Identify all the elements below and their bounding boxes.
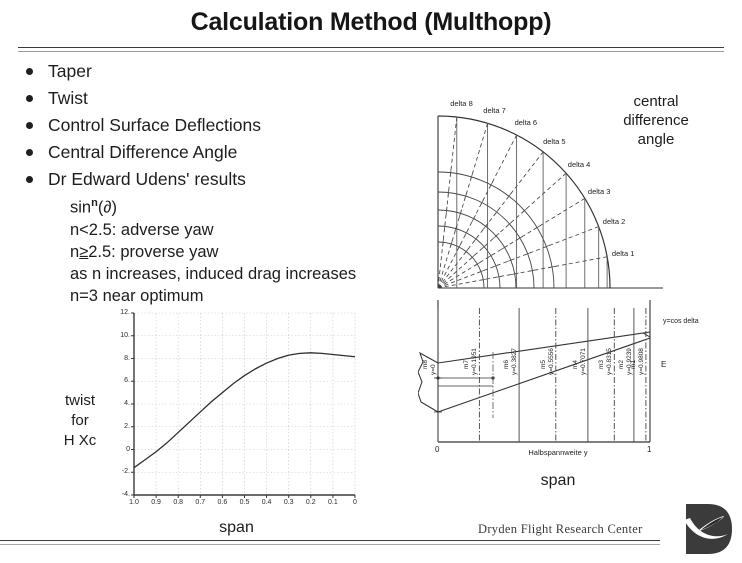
delta-label-3: delta 3: [588, 187, 611, 196]
span-axis-title: Halbspannweite y: [478, 448, 638, 457]
e-label: E: [661, 360, 666, 369]
twist-label-line3: H Xc: [52, 431, 108, 451]
cda-heading: central difference angle: [586, 92, 726, 149]
twist-y-tick: -4.: [108, 491, 130, 498]
sin-exponent: n: [91, 197, 98, 209]
twist-x-tick: 0.1: [323, 499, 343, 506]
twist-y-tick: 12.: [108, 309, 130, 316]
dryden-logo-icon: [678, 500, 736, 558]
delta-label-8: delta 8: [450, 99, 473, 108]
twist-chart: twist for H Xc 12.10.8.6.4.2.0-2.-4. 1.0…: [52, 303, 382, 543]
udens-detail-lines: sinn(∂) n<2.5: adverse yaw n≥2.5: prover…: [70, 192, 356, 307]
proverse-yaw-line: n≥2.5: proverse yaw: [70, 241, 356, 263]
twist-x-tick: 0.3: [279, 499, 299, 506]
proverse-prefix: n: [70, 243, 79, 261]
y-cos-delta-note: y=cos delta: [663, 318, 699, 325]
station-name: m7: [463, 360, 470, 369]
station-name: m1: [630, 360, 637, 369]
twist-y-tick: 4.: [108, 400, 130, 407]
greater-equal-symbol: ≥: [79, 243, 88, 261]
delta-label-2: delta 2: [603, 217, 626, 226]
twist-x-tick: 0.5: [235, 499, 255, 506]
station-name: m8: [422, 360, 429, 369]
title-divider-shadow: [18, 51, 724, 52]
bullet-label: Taper: [48, 60, 92, 83]
delta-label-5: delta 5: [543, 137, 566, 146]
station-name: m5: [540, 360, 547, 369]
twist-x-tick: 0: [345, 499, 365, 506]
delta-label-6: delta 6: [515, 118, 538, 127]
proverse-suffix: 2.5: proverse yaw: [88, 243, 218, 261]
page-title: Calculation Method (Multhopp): [0, 8, 742, 37]
bullet-label: Control Surface Deflections: [48, 114, 261, 137]
twist-label-line2: for: [52, 411, 108, 431]
bullet-label: Twist: [48, 87, 88, 110]
twist-y-tick: 2.: [108, 423, 130, 430]
twist-y-tick: 0: [108, 446, 130, 453]
twist-y-tick: 6.: [108, 377, 130, 384]
twist-y-tick: 10.: [108, 332, 130, 339]
adverse-yaw-line: n<2.5: adverse yaw: [70, 219, 356, 241]
twist-plot-area: 12.10.8.6.4.2.0-2.-4. 1.00.90.80.70.60.5…: [114, 309, 359, 507]
twist-x-tick: 0.6: [212, 499, 232, 506]
twist-y-tick: -2.: [108, 468, 130, 475]
delta-label-4: delta 4: [568, 160, 591, 169]
twist-label-line1: twist: [52, 391, 108, 411]
twist-plot-svg: [114, 309, 359, 507]
twist-gridlines: [134, 313, 355, 495]
list-item: Central Difference Angle: [26, 141, 426, 164]
bullet-dot-icon: [26, 176, 33, 183]
twist-tickmarks: [131, 313, 355, 498]
station-value: y=0.7071: [580, 348, 587, 375]
bullet-dot-icon: [26, 95, 33, 102]
bullet-label: Dr Edward Udens' results: [48, 168, 356, 191]
title-divider: [18, 47, 724, 48]
footer-divider: [0, 540, 660, 541]
sin-power-formula: sinn(∂): [70, 192, 356, 219]
bullet-dot-icon: [26, 68, 33, 75]
station-value: y=0.5556: [548, 348, 555, 375]
station-name: m2: [618, 360, 625, 369]
bullet-label: Central Difference Angle: [48, 141, 237, 164]
bullet-list: Taper Twist Control Surface Deflections …: [26, 60, 426, 311]
list-item: Control Surface Deflections: [26, 114, 426, 137]
station-value: y=0.3827: [511, 348, 518, 375]
station-name: m4: [572, 360, 579, 369]
twist-x-tick: 1.0: [124, 499, 144, 506]
central-difference-angle-diagram: central difference angle delta 1delta 2d…: [418, 88, 728, 313]
list-item: Twist: [26, 87, 426, 110]
cda-heading-line2: difference: [586, 111, 726, 130]
span-axis-start-label: 0: [435, 445, 439, 454]
list-item: Taper: [26, 60, 426, 83]
station-value: y=0.9808: [638, 348, 645, 375]
station-value: y=0: [430, 364, 437, 375]
twist-x-tick: 0.2: [301, 499, 321, 506]
cda-heading-line3: angle: [586, 130, 726, 149]
twist-axis-label: twist for H Xc: [52, 391, 108, 451]
twist-x-tick: 0.7: [190, 499, 210, 506]
sin-prefix: sin: [70, 199, 91, 217]
cda-heading-line1: central: [586, 92, 726, 111]
delta-label-7: delta 7: [483, 106, 506, 115]
footer-divider-shadow: [0, 544, 660, 545]
induced-drag-line: as n increases, induced drag increases: [70, 263, 356, 285]
footer-label: Dryden Flight Research Center: [478, 522, 643, 537]
station-name: m3: [598, 360, 605, 369]
station-value: y=0.8315: [606, 348, 613, 375]
delta-label-1: delta 1: [612, 249, 635, 258]
span-station-diagram: m8y=0m7y=0.1951m6y=0.3827m5y=0.5556m4y=0…: [418, 300, 728, 505]
sin-argument: (∂): [98, 199, 117, 217]
twist-x-tick: 0.9: [146, 499, 166, 506]
bullet-dot-icon: [26, 122, 33, 129]
twist-x-tick: 0.4: [257, 499, 277, 506]
bullet-dot-icon: [26, 149, 33, 156]
slide-root: Calculation Method (Multhopp) Taper Twis…: [0, 0, 742, 560]
span-caption: span: [458, 472, 658, 490]
station-value: y=0.1951: [471, 348, 478, 375]
twist-x-tick: 0.8: [168, 499, 188, 506]
list-item: Dr Edward Udens' results sinn(∂) n<2.5: …: [26, 168, 426, 307]
twist-x-axis-title: span: [114, 519, 359, 537]
station-name: m6: [503, 360, 510, 369]
twist-y-tick: 8.: [108, 355, 130, 362]
span-axis-end-label: 1: [647, 445, 651, 454]
